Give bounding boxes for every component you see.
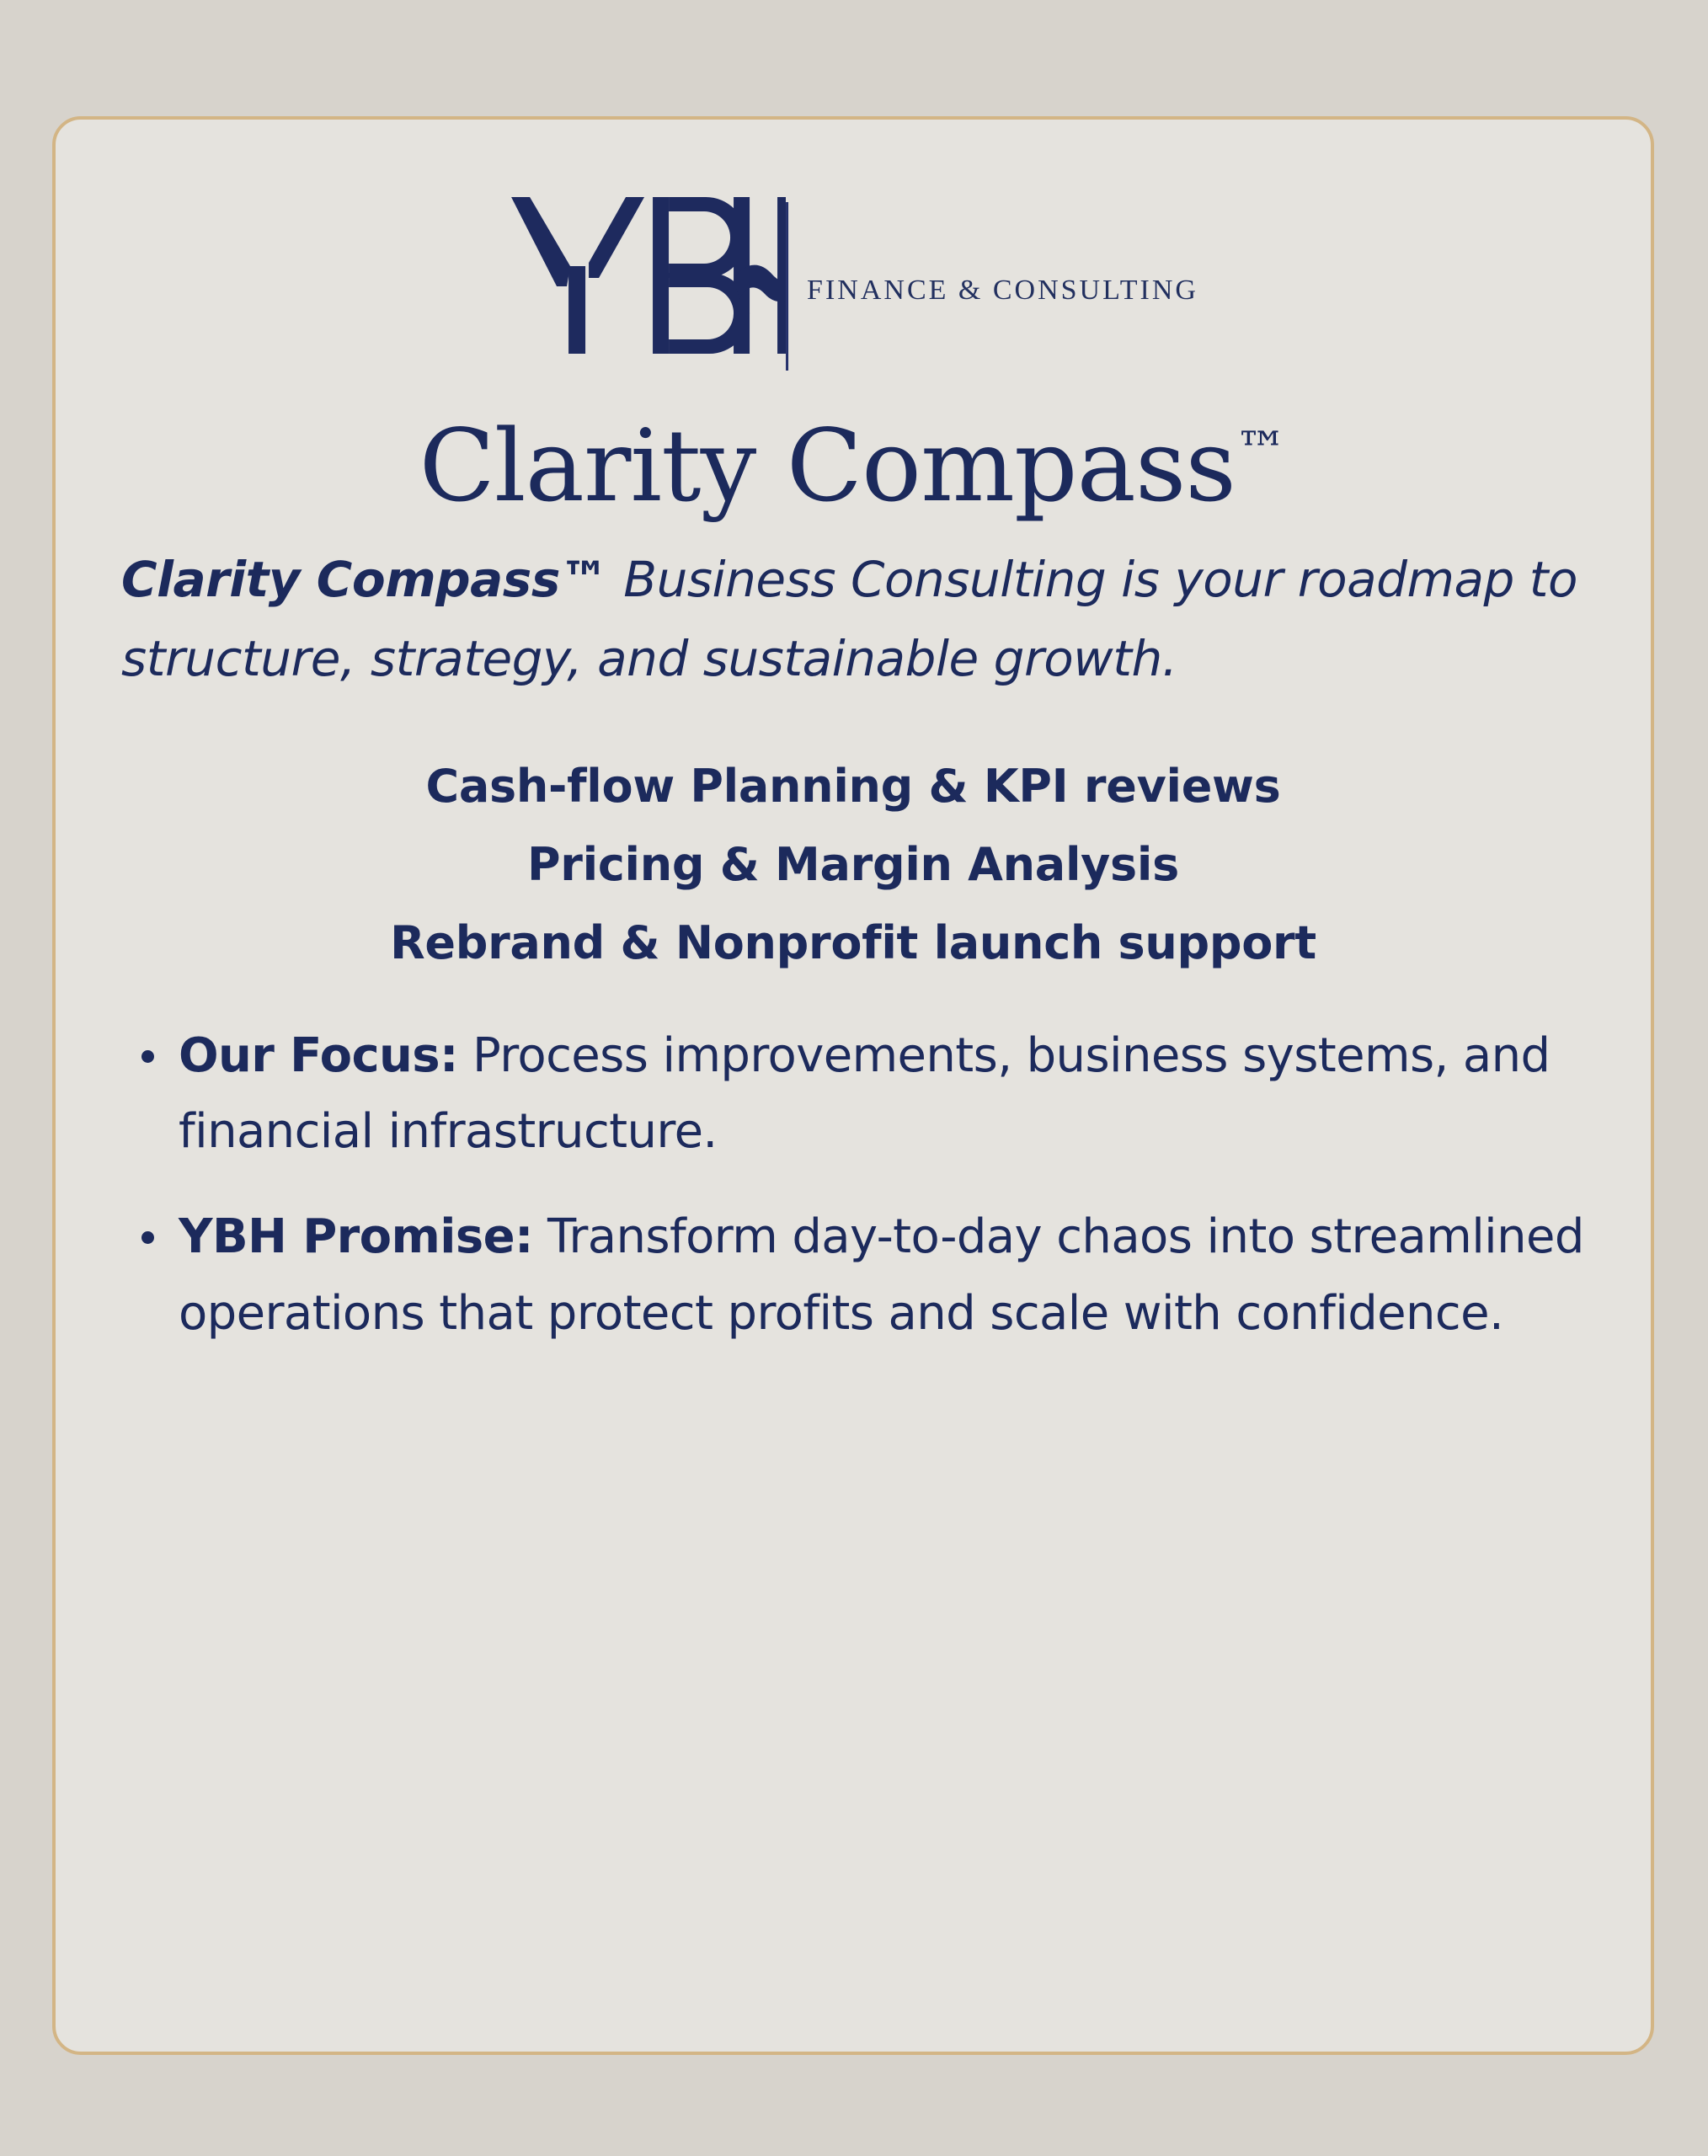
brand-logo: FINANCE & CONSULTING <box>56 179 1651 372</box>
lede-paragraph: Clarity Compass™ Business Consulting is … <box>121 541 1600 699</box>
list-item: Our Focus: Process improvements, busines… <box>106 1018 1600 1171</box>
logo-inner: FINANCE & CONSULTING <box>508 179 1198 372</box>
bullet-list: Our Focus: Process improvements, busines… <box>106 1018 1600 1353</box>
logo-tagline-wrap: FINANCE & CONSULTING <box>788 179 1198 372</box>
service-heading-2: Pricing & Margin Analysis <box>106 826 1600 905</box>
bullet-dot-icon <box>141 1231 154 1244</box>
service-heading-3: Rebrand & Nonprofit launch support <box>106 905 1600 983</box>
logo-tagline: FINANCE & CONSULTING <box>807 276 1198 305</box>
bullet-label: YBH Promise: <box>179 1209 533 1264</box>
card-content: Clarity Compass™ Business Consulting is … <box>106 541 1600 1352</box>
content-card: FINANCE & CONSULTING Clarity Compass™ Cl… <box>52 116 1654 2055</box>
bullet-label: Our Focus: <box>179 1028 458 1083</box>
trademark-symbol: ™ <box>1236 421 1287 481</box>
page-title-text: Clarity Compass <box>419 408 1236 524</box>
bullet-dot-icon <box>141 1050 154 1063</box>
ybh-monogram-icon <box>508 179 786 372</box>
page-title: Clarity Compass™ <box>56 416 1651 515</box>
poster-page: FINANCE & CONSULTING Clarity Compass™ Cl… <box>0 0 1708 2156</box>
list-item: YBH Promise: Transform day-to-day chaos … <box>106 1199 1600 1352</box>
service-headings: Cash-flow Planning & KPI reviews Pricing… <box>106 748 1600 983</box>
lede-brand: Clarity Compass™ <box>121 551 608 608</box>
service-heading-1: Cash-flow Planning & KPI reviews <box>106 748 1600 826</box>
